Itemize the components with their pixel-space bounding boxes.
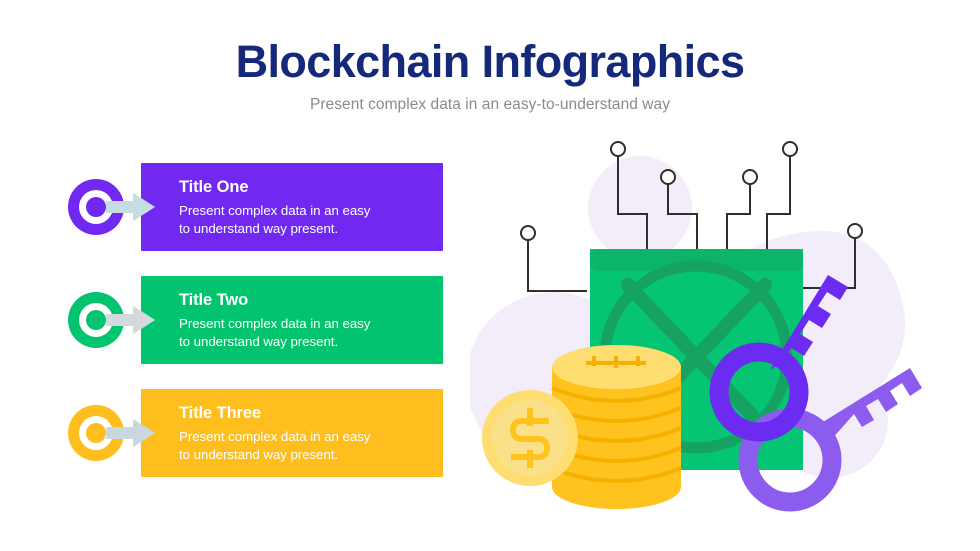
list-item-bar[interactable]: Title Two Present complex data in an eas… — [141, 276, 443, 364]
dollar-sign-icon — [513, 411, 547, 465]
slide-canvas: Blockchain Infographics Present complex … — [0, 0, 980, 551]
list-item-title: Title One — [179, 178, 433, 198]
list-item[interactable]: Title Two Present complex data in an eas… — [55, 276, 455, 364]
list-item[interactable]: Title Three Present complex data in an e… — [55, 389, 455, 477]
list-item-bar[interactable]: Title Three Present complex data in an e… — [141, 389, 443, 477]
page-subtitle: Present complex data in an easy-to-under… — [0, 96, 980, 114]
page-title: Blockchain Infographics — [0, 38, 980, 87]
list-item-text: Title Three Present complex data in an e… — [179, 404, 433, 464]
list-item-text: Title Two Present complex data in an eas… — [179, 291, 433, 351]
target-ring-arrow-icon — [55, 284, 165, 356]
list-item-title: Title Three — [179, 404, 433, 424]
list-item[interactable]: Title One Present complex data in an eas… — [55, 163, 455, 251]
target-ring-arrow-icon — [55, 171, 165, 243]
target-ring-arrow-icon — [55, 397, 165, 469]
blockchain-vault-illustration — [470, 130, 970, 530]
list-item-description: Present complex data in an easy to under… — [179, 202, 433, 239]
connector-node — [521, 226, 587, 291]
connector-node — [727, 170, 757, 249]
list-item-bar[interactable]: Title One Present complex data in an eas… — [141, 163, 443, 251]
list-item-title: Title Two — [179, 291, 433, 311]
list-item-description: Present complex data in an easy to under… — [179, 428, 433, 465]
list-item-text: Title One Present complex data in an eas… — [179, 178, 433, 238]
feature-list: Title One Present complex data in an eas… — [55, 163, 455, 477]
dollar-coin — [482, 390, 578, 486]
header: Blockchain Infographics Present complex … — [0, 38, 980, 114]
connector-node — [767, 142, 797, 249]
list-item-description: Present complex data in an easy to under… — [179, 315, 433, 352]
